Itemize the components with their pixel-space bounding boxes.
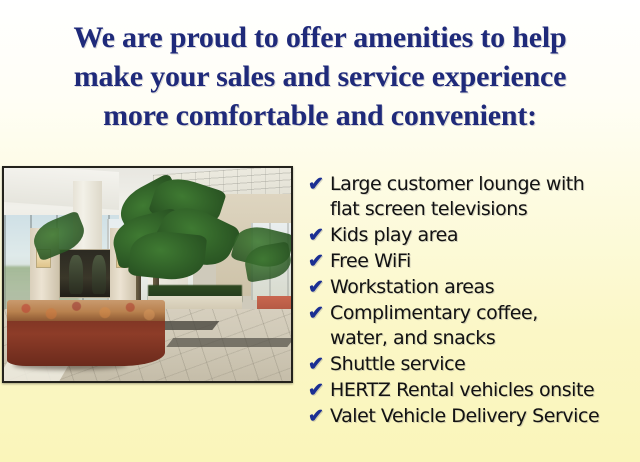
list-item: ✔ HERTZ Rental vehicles onsite xyxy=(308,378,640,403)
list-item-line-2: water, and snacks xyxy=(330,327,495,349)
photo-urn-left xyxy=(69,255,83,293)
list-item: ✔ Workstation areas xyxy=(308,275,640,300)
headline-line-1: We are proud to offer amenities to help xyxy=(0,18,640,57)
list-item-label: Free WiFi xyxy=(330,249,640,274)
list-item-label: Kids play area xyxy=(330,223,640,248)
list-item: ✔ Shuttle service xyxy=(308,352,640,377)
page-title: We are proud to offer amenities to help … xyxy=(0,18,640,135)
photo-palm-frond-5 xyxy=(128,228,207,282)
check-icon: ✔ xyxy=(308,378,330,403)
list-item: ✔ Complimentary coffee, water, and snack… xyxy=(308,301,640,351)
lobby-photo xyxy=(2,166,293,383)
slide-canvas: We are proud to offer amenities to help … xyxy=(0,0,640,462)
photo-reception-desk-base xyxy=(7,317,165,366)
list-item: ✔ Large customer lounge with flat screen… xyxy=(308,172,640,222)
check-icon: ✔ xyxy=(308,404,330,429)
check-icon: ✔ xyxy=(308,301,330,326)
check-icon: ✔ xyxy=(308,172,330,197)
photo-urn-right xyxy=(92,255,106,293)
list-item-label: HERTZ Rental vehicles onsite xyxy=(330,378,640,403)
list-item-label: Complimentary coffee, water, and snacks xyxy=(330,301,640,351)
list-item-line-2: flat screen televisions xyxy=(330,198,527,220)
list-item-label: Shuttle service xyxy=(330,352,640,377)
amenities-list: ✔ Large customer lounge with flat screen… xyxy=(308,172,640,430)
list-item: ✔ Kids play area xyxy=(308,223,640,248)
list-item-line-1: Complimentary coffee, xyxy=(330,302,538,324)
list-item: ✔ Free WiFi xyxy=(308,249,640,274)
list-item-line-1: Large customer lounge with xyxy=(330,173,584,195)
check-icon: ✔ xyxy=(308,223,330,248)
list-item: ✔ Valet Vehicle Delivery Service xyxy=(308,404,640,429)
photo-floor-accent-band-2 xyxy=(167,338,293,347)
list-item-label: Valet Vehicle Delivery Service xyxy=(330,404,640,429)
list-item-label: Workstation areas xyxy=(330,275,640,300)
headline-line-2: make your sales and service experience xyxy=(0,57,640,96)
photo-reception-desk-countertop xyxy=(7,300,165,321)
check-icon: ✔ xyxy=(308,275,330,300)
check-icon: ✔ xyxy=(308,352,330,377)
list-item-label: Large customer lounge with flat screen t… xyxy=(330,172,640,222)
check-icon: ✔ xyxy=(308,249,330,274)
headline-line-3: more comfortable and convenient: xyxy=(0,96,640,135)
